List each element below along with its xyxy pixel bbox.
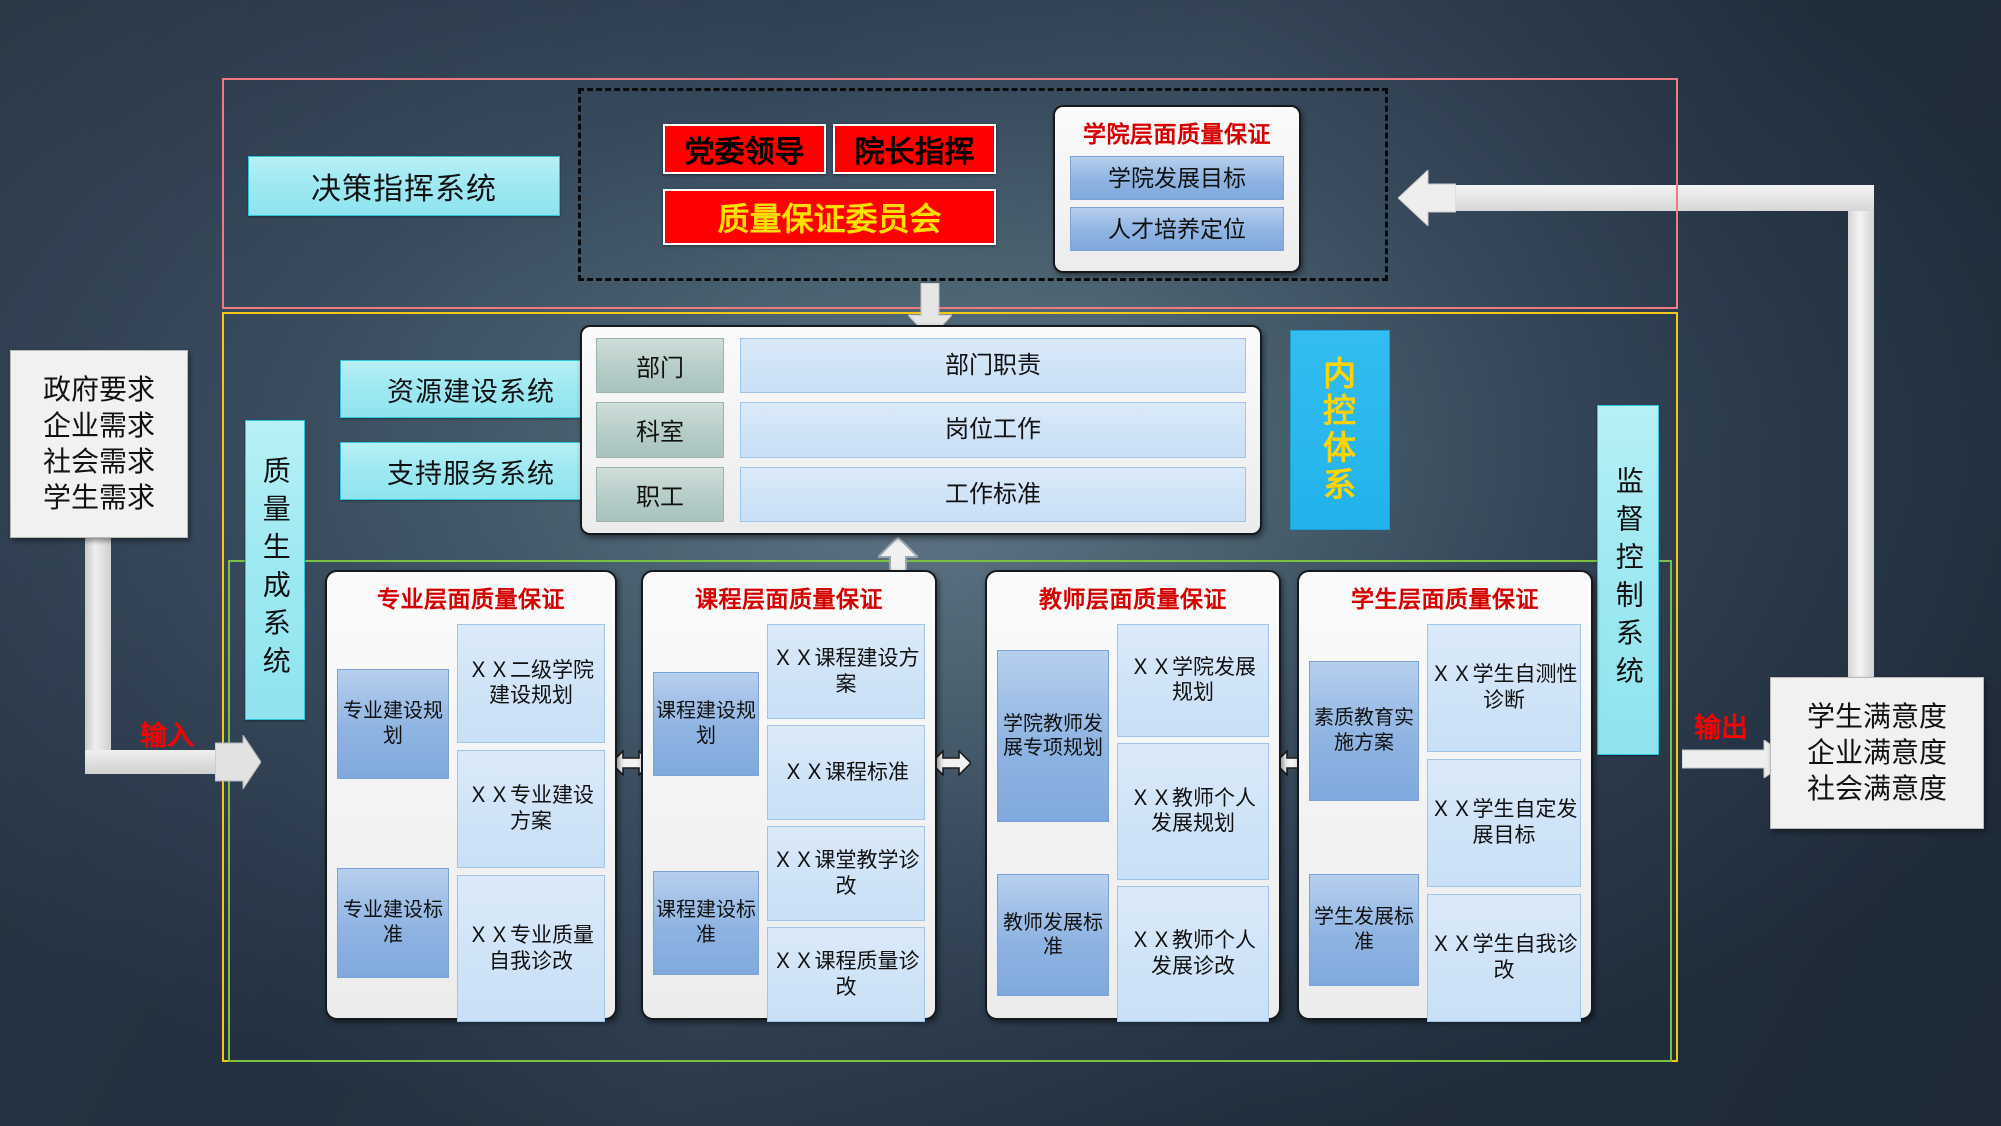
quality-assurance-committee-box[interactable]: 质量保证委员会 [663,189,996,245]
student-right-item-1[interactable]: ＸＸ学生自定发展目标 [1427,759,1581,887]
teacher-right-item-1[interactable]: ＸＸ教师个人发展规划 [1117,743,1269,880]
student-right-item-2[interactable]: ＸＸ学生自我诊改 [1427,894,1581,1022]
supervision-control-system-box[interactable]: 监督控制系统 [1597,405,1659,755]
level-panel-major-title: 专业层面质量保证 [337,580,605,614]
course-right-item-1[interactable]: ＸＸ课程标准 [767,725,925,820]
input-line-4: 学生需求 [43,480,155,516]
resource-construction-system-box[interactable]: 资源建设系统 [340,360,602,418]
duty-text-staff[interactable]: 工作标准 [740,467,1246,522]
major-left-item-0[interactable]: 专业建设规划 [337,669,449,779]
party-leadership-box[interactable]: 党委领导 [663,124,826,174]
student-left-item-0[interactable]: 素质教育实施方案 [1309,661,1419,801]
duty-level-department[interactable]: 部门 [596,338,724,393]
college-level-panel: 学院层面质量保证 学院发展目标 人才培养定位 [1053,105,1301,273]
input-sign-post [85,538,111,773]
internal-control-label: 内控体系 [1314,356,1366,504]
duty-table-row: 职工 工作标准 [596,467,1246,522]
input-arrow-right-icon [215,735,261,789]
diagram-canvas: 政府要求 企业需求 社会需求 学生需求 输入 决策指挥系统 党委领导 院长指挥 … [0,0,2001,1126]
level-panel-student-title: 学生层面质量保证 [1309,580,1581,614]
course-right-item-0[interactable]: ＸＸ课程建设方案 [767,624,925,719]
level-panel-teacher-title: 教师层面质量保证 [997,580,1269,614]
output-line-3: 社会满意度 [1807,771,1947,807]
duty-level-section[interactable]: 科室 [596,402,724,457]
output-line-2: 企业满意度 [1807,735,1947,771]
major-right-item-2[interactable]: ＸＸ专业质量自我诊改 [457,875,605,1022]
teacher-right-item-0[interactable]: ＸＸ学院发展规划 [1117,624,1269,737]
output-satisfaction-sign: 学生满意度 企业满意度 社会满意度 [1770,677,1984,829]
duty-table-panel: 部门 部门职责 科室 岗位工作 职工 工作标准 [580,325,1262,535]
college-item-talent-positioning[interactable]: 人才培养定位 [1070,207,1284,251]
output-label: 输出 [1694,706,1748,745]
teacher-right-item-2[interactable]: ＸＸ教师个人发展诊改 [1117,886,1269,1023]
input-label: 输入 [140,714,194,753]
level-panel-course-title: 课程层面质量保证 [653,580,925,614]
course-left-item-1[interactable]: 课程建设标准 [653,871,759,975]
input-requirements-sign: 政府要求 企业需求 社会需求 学生需求 [10,350,188,538]
input-line-2: 企业需求 [43,408,155,444]
level-panel-major: 专业层面质量保证 专业建设规划 专业建设标准 ＸＸ二级学院建设规划 ＸＸ专业建设… [325,570,617,1020]
level-panel-teacher: 教师层面质量保证 学院教师发展专项规划 教师发展标准 ＸＸ学院发展规划 ＸＸ教师… [985,570,1281,1020]
course-right-item-2[interactable]: ＸＸ课堂教学诊改 [767,826,925,921]
input-line-1: 政府要求 [43,372,155,408]
level-panel-student: 学生层面质量保证 素质教育实施方案 学生发展标准 ＸＸ学生自测性诊断 ＸＸ学生自… [1297,570,1593,1020]
student-right-item-0[interactable]: ＸＸ学生自测性诊断 [1427,624,1581,752]
decision-command-system-box[interactable]: 决策指挥系统 [248,156,560,216]
feedback-loop-vertical [1848,200,1874,686]
level-panel-course: 课程层面质量保证 课程建设规划 课程建设标准 ＸＸ课程建设方案 ＸＸ课程标准 Ｘ… [641,570,937,1020]
quality-generation-system-box[interactable]: 质量生成系统 [245,420,305,720]
duty-table-row: 科室 岗位工作 [596,402,1246,457]
major-right-item-1[interactable]: ＸＸ专业建设方案 [457,750,605,869]
duty-level-staff[interactable]: 职工 [596,467,724,522]
major-right-item-0[interactable]: ＸＸ二级学院建设规划 [457,624,605,743]
input-line-3: 社会需求 [43,444,155,480]
student-left-item-1[interactable]: 学生发展标准 [1309,874,1419,986]
major-left-item-1[interactable]: 专业建设标准 [337,868,449,978]
duty-text-section[interactable]: 岗位工作 [740,402,1246,457]
input-sign-post-arm [85,750,230,774]
course-teacher-arrow-left-right-icon [931,747,971,779]
college-item-development-goal[interactable]: 学院发展目标 [1070,156,1284,200]
president-command-box[interactable]: 院长指挥 [833,124,996,174]
support-service-system-box[interactable]: 支持服务系统 [340,442,602,500]
duty-table-row: 部门 部门职责 [596,338,1246,393]
teacher-left-item-0[interactable]: 学院教师发展专项规划 [997,650,1109,822]
teacher-left-item-1[interactable]: 教师发展标准 [997,874,1109,996]
output-line-1: 学生满意度 [1807,699,1947,735]
course-right-item-3[interactable]: ＸＸ课程质量诊改 [767,927,925,1022]
internal-control-system-box[interactable]: 内控体系 [1290,330,1390,530]
college-level-title: 学院层面质量保证 [1065,115,1289,149]
course-left-item-0[interactable]: 课程建设规划 [653,672,759,776]
duty-text-department[interactable]: 部门职责 [740,338,1246,393]
feedback-arrow-left-icon [1398,170,1456,226]
